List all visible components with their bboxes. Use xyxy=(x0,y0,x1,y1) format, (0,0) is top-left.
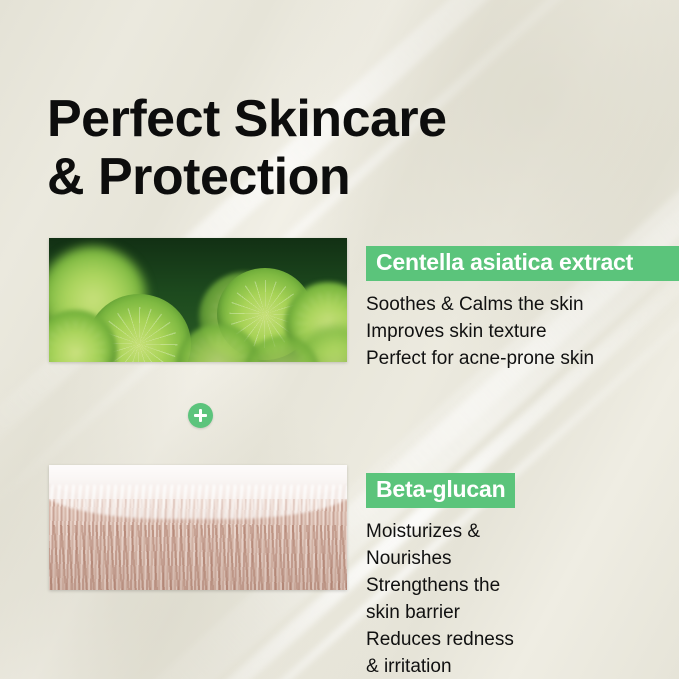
mushroom-shading xyxy=(49,465,347,590)
page-title: Perfect Skincare & Protection xyxy=(47,90,447,206)
ingredient-name-centella: Centella asiatica extract xyxy=(366,246,679,281)
centella-benefits: Soothes & Calms the skin Improves skin t… xyxy=(366,291,679,372)
centella-copy: Centella asiatica extract Soothes & Calm… xyxy=(366,246,679,372)
ingredient-name-beta-glucan: Beta-glucan xyxy=(366,473,515,508)
plus-vertical-bar xyxy=(199,409,202,422)
plus-icon xyxy=(188,403,213,428)
centella-leaf-scene xyxy=(49,238,347,362)
infographic-canvas: Perfect Skincare & Protection Centella a… xyxy=(0,0,679,679)
beta-glucan-copy: Beta-glucan Moisturizes & Nourishes Stre… xyxy=(366,473,515,679)
mushroom-gills-scene xyxy=(49,465,347,590)
beta-glucan-image xyxy=(49,465,347,590)
centella-image xyxy=(49,238,347,362)
beta-glucan-benefits: Moisturizes & Nourishes Strengthens the … xyxy=(366,518,515,679)
